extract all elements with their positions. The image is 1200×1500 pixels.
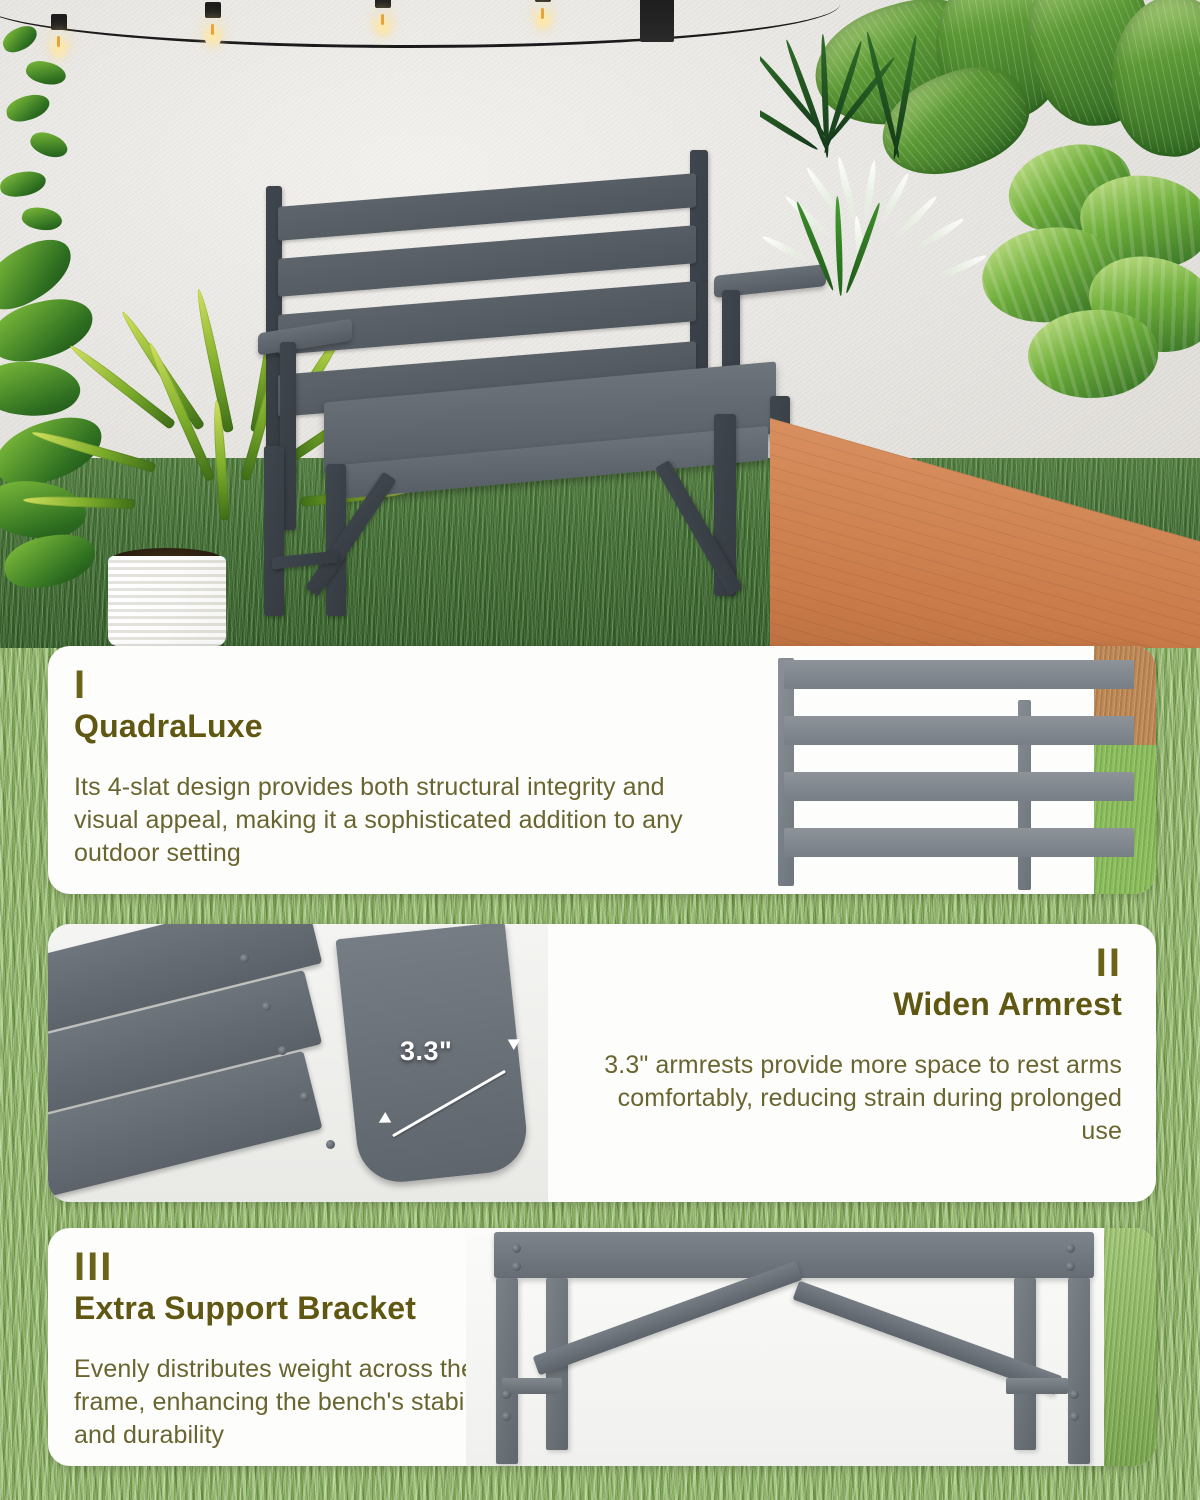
lantern-light: [640, 0, 666, 42]
bench-leg: [1068, 1278, 1090, 1464]
feature-1-body: Its 4-slat design provides both structur…: [74, 771, 722, 870]
cross-brace: [502, 1378, 562, 1394]
feature-panel-3: III Extra Support Bracket Evenly distrib…: [48, 1228, 1156, 1466]
detail-slat: [784, 716, 1134, 745]
feature-3-image: [466, 1228, 1156, 1466]
plant-pot: [108, 556, 226, 646]
feature-2-numeral: II: [582, 946, 1122, 980]
bench-product: [262, 146, 827, 616]
hero-product-photo: [0, 0, 1200, 648]
detail-slat: [784, 772, 1134, 801]
feature-1-text: I QuadraLuxe Its 4-slat design provides …: [48, 646, 748, 892]
bench-leg: [496, 1278, 518, 1464]
light-bulb: [530, 0, 556, 32]
feature-2-title: Widen Armrest: [582, 986, 1122, 1023]
feature-panel-1: I QuadraLuxe Its 4-slat design provides …: [48, 646, 1156, 894]
dimension-label: 3.3": [400, 1036, 452, 1067]
light-bulb: [370, 0, 396, 38]
tropical-foliage: [760, 0, 1200, 510]
feature-1-numeral: I: [74, 668, 722, 702]
feature-2-text: II Widen Armrest 3.3" armrests provide m…: [556, 924, 1156, 1170]
feature-1-title: QuadraLuxe: [74, 708, 722, 745]
support-bracket: [533, 1261, 803, 1376]
feature-2-image: 3.3": [48, 924, 548, 1202]
feature-panel-2: 3.3" II Widen Armrest 3.3" armrests prov…: [48, 924, 1156, 1202]
light-bulb: [46, 14, 72, 60]
grass-edge: [1104, 1228, 1156, 1466]
feature-1-image: [756, 646, 1156, 894]
light-bulb: [200, 2, 226, 48]
detail-slat: [784, 828, 1134, 857]
backrest-slat: [278, 281, 696, 355]
cross-brace: [1006, 1378, 1068, 1394]
detail-slat: [784, 660, 1134, 689]
bench-leg: [264, 446, 284, 616]
feature-2-body: 3.3" armrests provide more space to rest…: [582, 1049, 1122, 1148]
